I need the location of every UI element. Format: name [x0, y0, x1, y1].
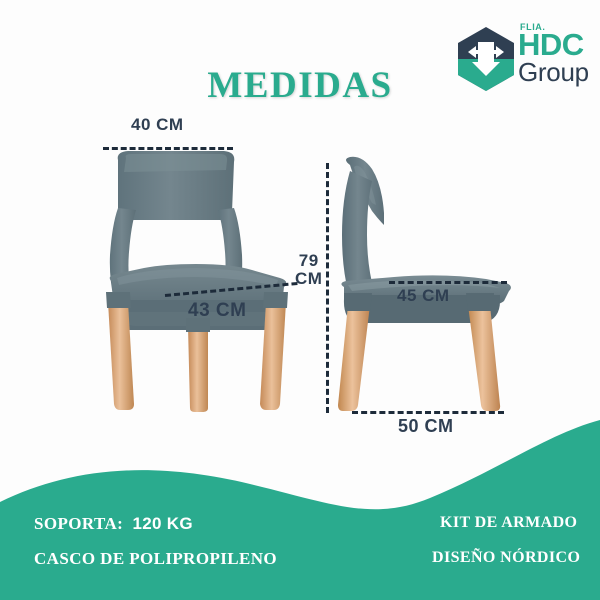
footer-design-line: DISEÑO NÓRDICO [432, 549, 580, 567]
dimension-label-total-height: 79 CM [295, 252, 322, 289]
footer-support-line: SOPORTA: 120 KG [34, 514, 193, 534]
dimension-label-seat-depth: 45 CM [397, 286, 450, 306]
chair-side-view [334, 155, 520, 413]
infographic-canvas: FLIA. HDC Group MEDIDAS [0, 0, 600, 600]
footer-support-value: 120 KG [133, 514, 193, 533]
footer-support-label: SOPORTA: [34, 514, 123, 533]
dimension-label-width-top: 40 CM [131, 115, 184, 135]
dimension-line-total-height [326, 163, 329, 413]
brand-name: HDC [518, 29, 584, 60]
dimension-line-width-top [103, 147, 233, 150]
dimension-line-seat-depth [389, 281, 507, 284]
footer-text-block: SOPORTA: 120 KG CASCO DE POLIPROPILENO K… [0, 508, 600, 600]
footer-material-line: CASCO DE POLIPROPILENO [34, 549, 277, 569]
footer-assembly-line: KIT DE ARMADO [440, 514, 577, 532]
dimension-label-seat-width: 43 CM [188, 300, 246, 322]
chair-front-view [84, 150, 314, 412]
page-title: MEDIDAS [0, 64, 600, 107]
